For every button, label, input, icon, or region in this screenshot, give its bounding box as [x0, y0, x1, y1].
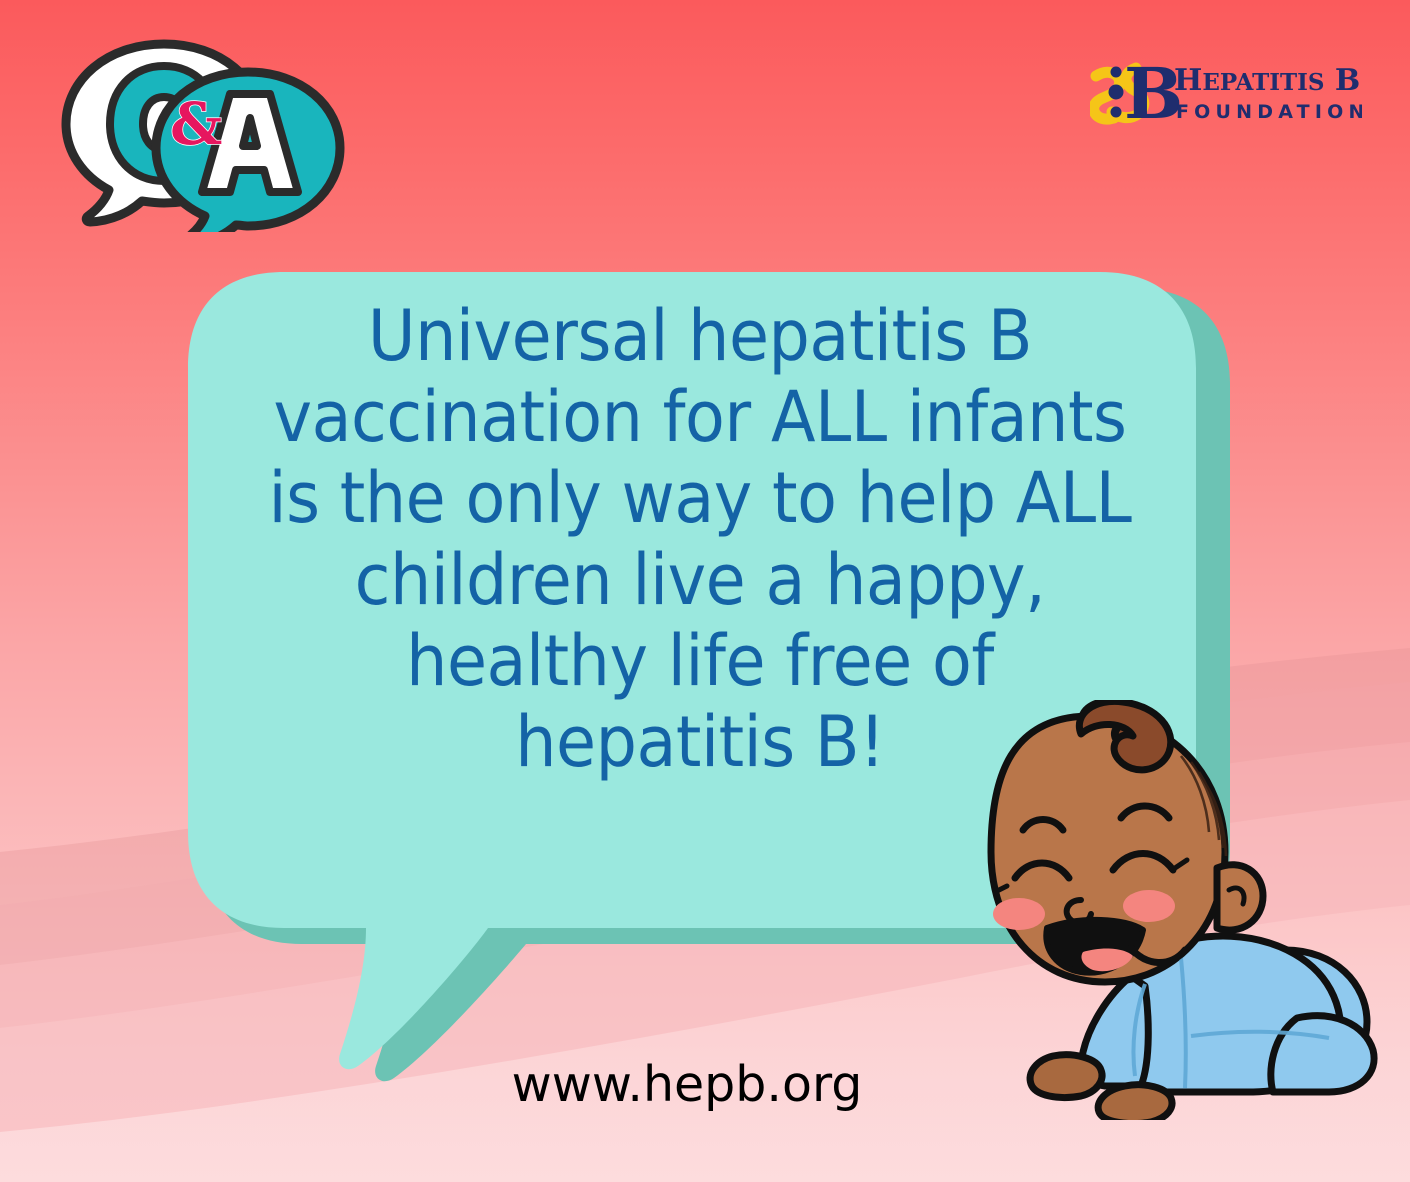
- qa-logo: &: [52, 36, 352, 232]
- website-url: www.hepb.org: [0, 1056, 1410, 1113]
- cheek-left: [993, 898, 1045, 930]
- cheek-right: [1123, 890, 1175, 922]
- hbf-title-line2: FOUNDATION: [1176, 101, 1362, 123]
- hepatitis-b-foundation-logo: B HEPATITIS B FOUNDATION: [1090, 52, 1362, 136]
- hbf-title-line1: HEPATITIS B: [1174, 63, 1360, 98]
- ampersand: &: [170, 90, 222, 158]
- website-url-text: www.hepb.org: [512, 1056, 863, 1113]
- svg-text:&: &: [170, 90, 222, 158]
- poster-canvas: & B HEPATITIS B FOUNDATION: [0, 0, 1410, 1182]
